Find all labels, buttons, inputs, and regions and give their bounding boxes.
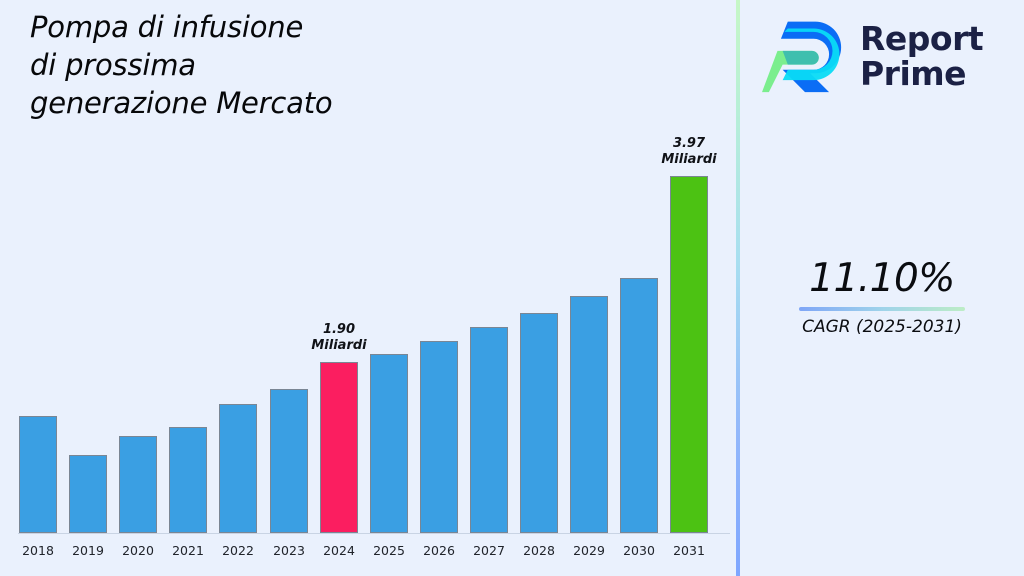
bar-2026[interactable] [420, 341, 458, 533]
cagr-block: 11.10% CAGR (2025-2031) [740, 255, 1024, 338]
bar-2031[interactable] [670, 176, 708, 533]
plot-area: 20182019202020212022202320241.90 Miliard… [0, 0, 737, 576]
x-tick-label-2031: 2031 [664, 543, 714, 558]
x-tick-label-2029: 2029 [564, 543, 614, 558]
cagr-caption: CAGR (2025-2031) [740, 316, 1024, 338]
chart-screenshot: Pompa di infusione di prossima generazio… [0, 0, 1024, 576]
bar-2023[interactable] [270, 389, 308, 533]
x-axis-line [18, 533, 730, 534]
cagr-divider-rule [799, 307, 965, 311]
x-tick-label-2019: 2019 [63, 543, 113, 558]
bar-2027[interactable] [470, 327, 508, 533]
brand-name-line1: Report [860, 21, 983, 56]
brand-name: Report Prime [860, 21, 983, 91]
x-tick-label-2024: 2024 [314, 543, 364, 558]
x-tick-label-2020: 2020 [113, 543, 163, 558]
x-tick-label-2018: 2018 [13, 543, 63, 558]
bar-2020[interactable] [119, 436, 157, 533]
bar-2028[interactable] [520, 313, 558, 533]
bar-value-label-2031: 3.97 Miliardi [639, 136, 739, 168]
right-panel: Report Prime 11.10% CAGR (2025-2031) [740, 0, 1024, 576]
chart-panel: Pompa di infusione di prossima generazio… [0, 0, 737, 576]
x-tick-label-2028: 2028 [514, 543, 564, 558]
bar-2021[interactable] [169, 427, 207, 533]
brand-logo: Report Prime [762, 8, 1012, 104]
x-tick-label-2025: 2025 [364, 543, 414, 558]
x-tick-label-2022: 2022 [213, 543, 263, 558]
bar-2018[interactable] [19, 416, 57, 533]
x-tick-label-2021: 2021 [163, 543, 213, 558]
brand-name-line2: Prime [860, 56, 983, 91]
report-prime-r-logo-icon [762, 13, 848, 99]
bar-2029[interactable] [570, 296, 608, 533]
x-tick-label-2023: 2023 [264, 543, 314, 558]
cagr-value: 11.10% [740, 255, 1024, 303]
bar-value-label-2024: 1.90 Miliardi [289, 322, 389, 354]
bar-2025[interactable] [370, 354, 408, 533]
bar-2030[interactable] [620, 278, 658, 533]
x-tick-label-2030: 2030 [614, 543, 664, 558]
bar-2022[interactable] [219, 404, 257, 533]
x-tick-label-2026: 2026 [414, 543, 464, 558]
x-tick-label-2027: 2027 [464, 543, 514, 558]
bar-2019[interactable] [69, 455, 107, 533]
bar-2024[interactable] [320, 362, 358, 533]
